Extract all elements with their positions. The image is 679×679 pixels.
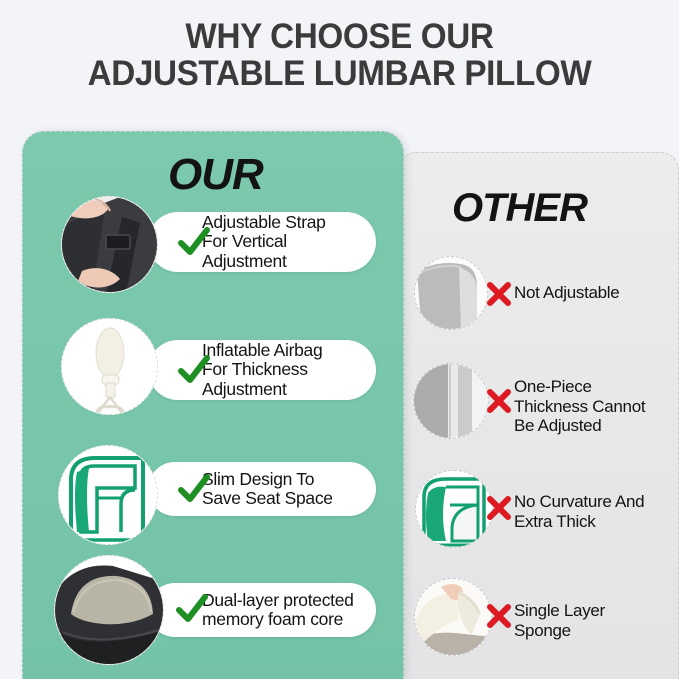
other-feature-image-3 [415,470,493,548]
other-feature-image-1 [414,256,488,330]
our-feature-image-4 [54,555,164,665]
our-feature-text-4: Dual-layer protected memory foam core [202,591,354,630]
page-title-line-2: ADJUSTABLE LUMBAR PILLOW [17,55,662,92]
page-title: WHY CHOOSE OUR ADJUSTABLE LUMBAR PILLOW [17,18,662,92]
our-feature-text-1: Adjustable Strap For Vertical Adjustment [202,213,326,272]
x-icon [486,281,512,307]
x-icon [486,603,512,629]
other-feature-text-3: No Curvature And Extra Thick [514,492,679,531]
our-feature-image-1 [61,196,158,293]
x-icon [486,388,512,414]
our-feature-text-3: Slim Design To Save Seat Space [202,470,333,509]
other-feature-image-4 [414,578,492,656]
check-icon [176,594,208,624]
other-feature-image-2 [413,363,489,439]
page-title-line-1: WHY CHOOSE OUR [185,17,493,56]
our-feature-image-3 [58,445,158,545]
other-column-heading: OTHER [452,186,587,231]
our-feature-image-2 [61,318,158,415]
check-icon [178,474,210,504]
our-column-heading: OUR [168,150,263,200]
other-feature-text-4: Single Layer Sponge [514,601,679,640]
check-icon [178,227,210,257]
check-icon [178,355,210,385]
x-icon [486,495,512,521]
other-feature-text-1: Not Adjustable [514,283,674,303]
infographic-page: WHY CHOOSE OUR ADJUSTABLE LUMBAR PILLOW … [0,0,679,679]
other-feature-text-2: One-Piece Thickness Cannot Be Adjusted [514,377,679,436]
our-feature-text-2: Inflatable Airbag For Thickness Adjustme… [202,341,322,400]
